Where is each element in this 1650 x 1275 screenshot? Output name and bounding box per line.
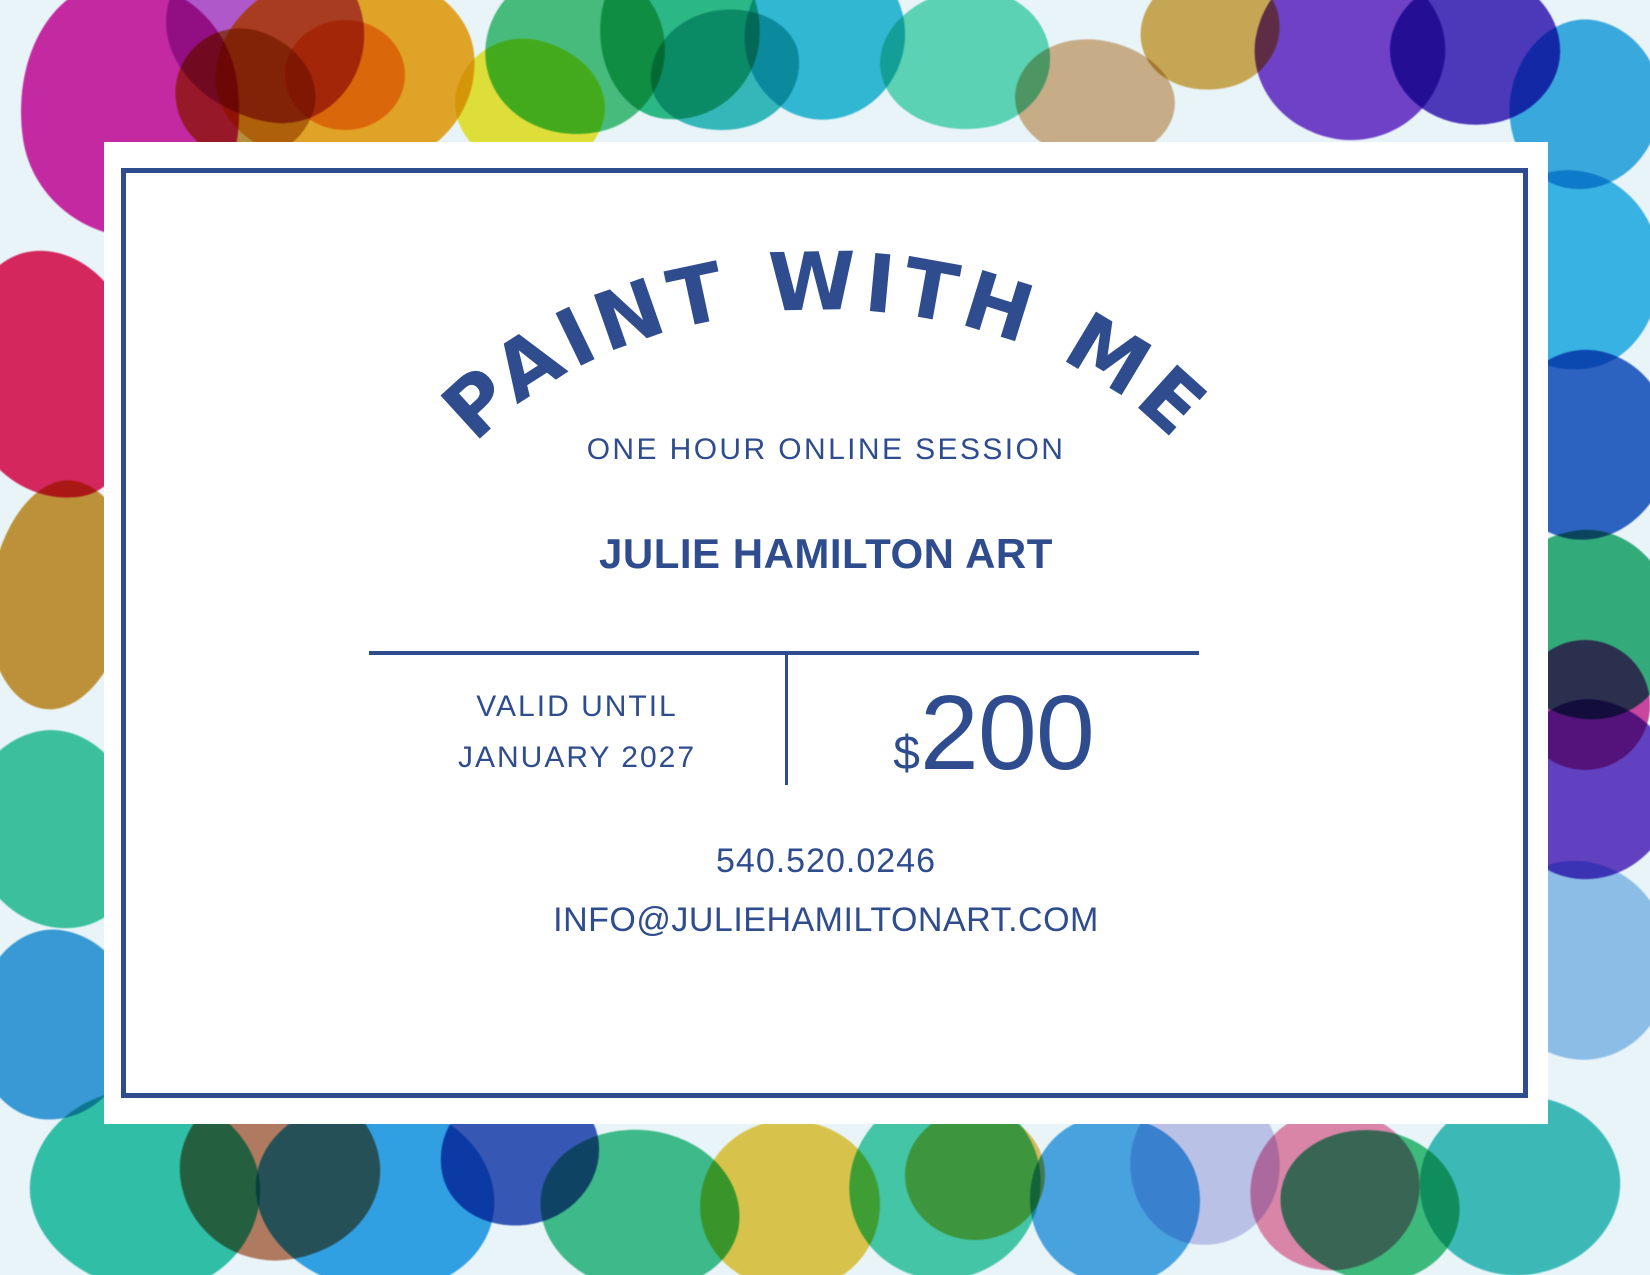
arched-title-text: PAINT WITH ME — [425, 235, 1228, 458]
price-column: $ 200 — [788, 655, 1199, 815]
orange-core-blob — [285, 20, 405, 130]
price-amount: 200 — [920, 680, 1094, 786]
price-currency-symbol: $ — [893, 730, 920, 778]
arched-title-textpath: PAINT WITH ME — [425, 235, 1228, 458]
validity-column: VALID UNTIL JANUARY 2027 — [369, 655, 785, 815]
validity-label: VALID UNTIL — [476, 681, 678, 732]
arched-title-svg: PAINT WITH ME — [436, 270, 1216, 460]
certificate-canvas: PAINT WITH ME ONE HOUR ONLINE SESSION JU… — [0, 0, 1650, 1275]
business-name: JULIE HAMILTON ART — [104, 530, 1548, 578]
validity-date: JANUARY 2027 — [458, 732, 696, 783]
card-content: PAINT WITH ME ONE HOUR ONLINE SESSION JU… — [104, 142, 1548, 1124]
contact-phone: 540.520.0246 — [104, 842, 1548, 881]
contact-block: 540.520.0246 INFO@JULIEHAMILTONART.COM — [104, 842, 1548, 940]
price-group: $ 200 — [893, 680, 1094, 786]
session-subtitle: ONE HOUR ONLINE SESSION — [104, 433, 1548, 467]
gold-ring-bottom-blob — [905, 1110, 1045, 1240]
arched-title: PAINT WITH ME — [104, 270, 1548, 460]
contact-email: INFO@JULIEHAMILTONART.COM — [104, 901, 1548, 940]
details-block: VALID UNTIL JANUARY 2027 $ 200 — [369, 651, 1199, 815]
details-columns: VALID UNTIL JANUARY 2027 $ 200 — [369, 655, 1199, 815]
gift-card: PAINT WITH ME ONE HOUR ONLINE SESSION JU… — [104, 142, 1548, 1124]
